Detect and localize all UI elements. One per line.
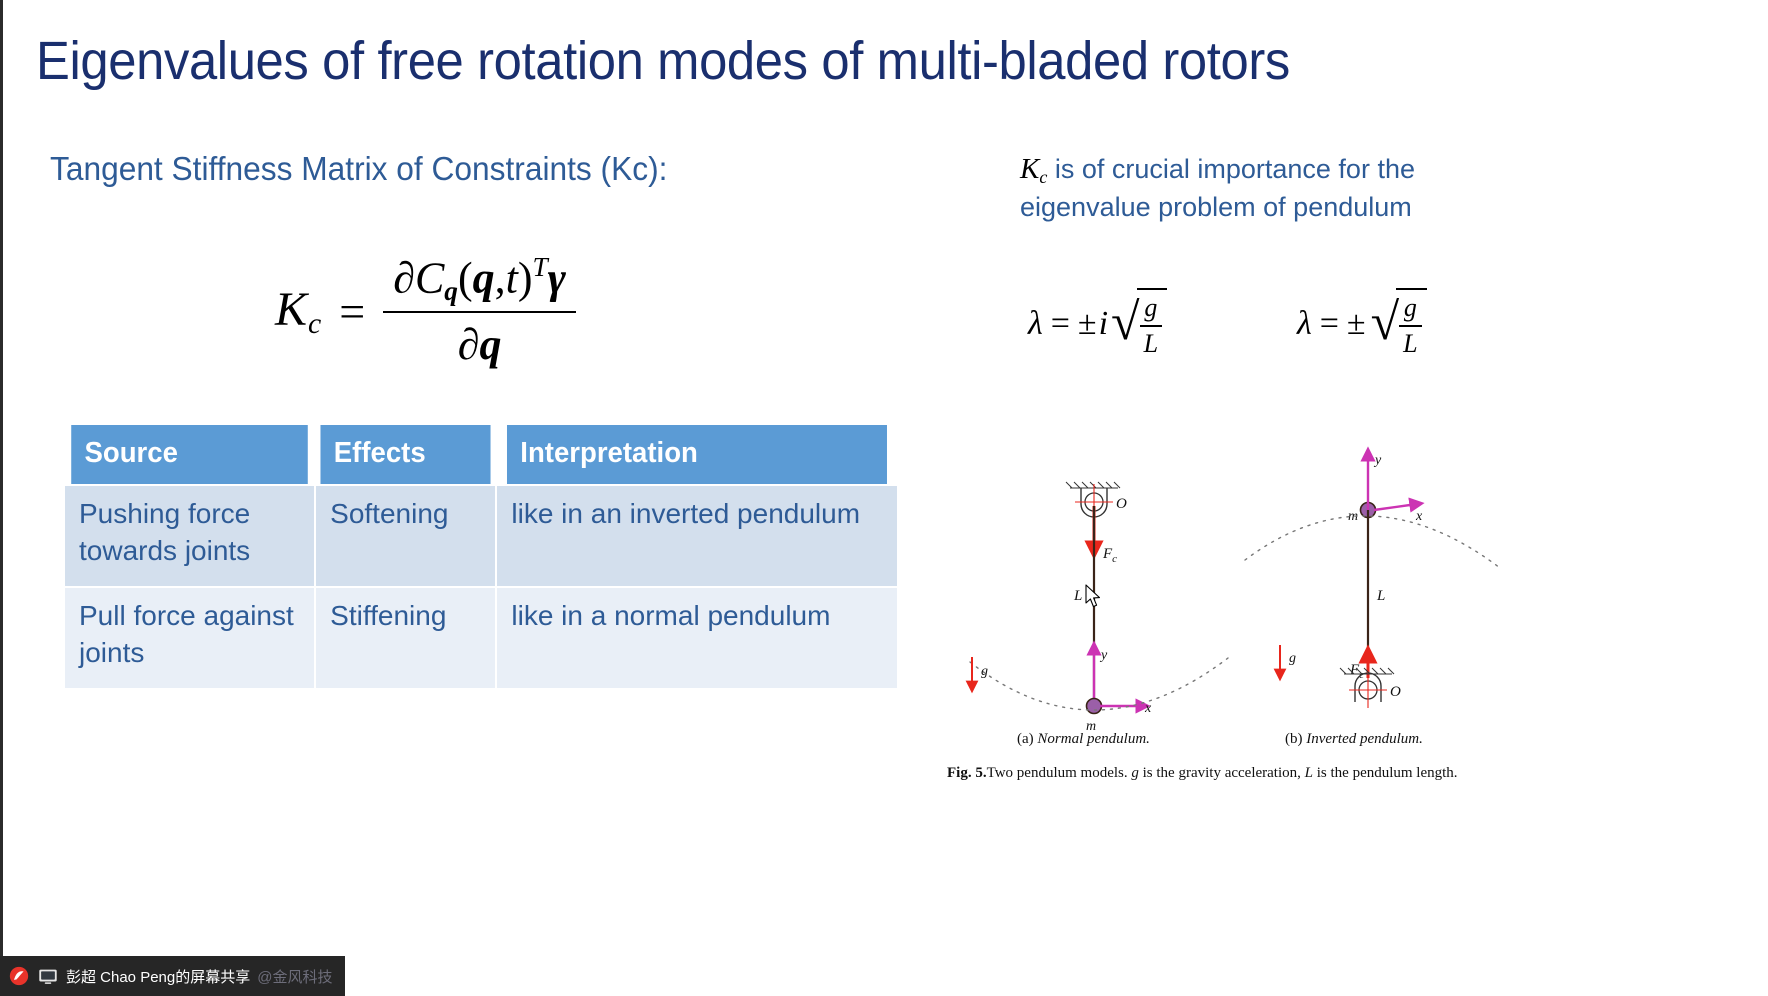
gravity-label-b: g xyxy=(1289,651,1296,666)
kc-lhs: Kc xyxy=(275,282,321,341)
column-header-effects: Effects xyxy=(321,425,491,484)
time-t: t xyxy=(506,253,518,302)
kc-equation: Kc = ∂Cq(q,t)Tγ ∂q xyxy=(275,252,576,370)
normal-pendulum-group: O Fc L y m x g xyxy=(970,482,1228,734)
swing-arc-b xyxy=(1245,516,1500,568)
column-header-source: Source xyxy=(71,425,308,484)
slide-title: Eigenvalues of free rotation modes of mu… xyxy=(36,32,1634,91)
y-label-b: y xyxy=(1373,453,1382,468)
cell-effects: Softening xyxy=(316,486,495,586)
figure-caption-g: g xyxy=(1131,765,1139,781)
effects-table: Source Effects Interpretation Pushing fo… xyxy=(63,423,899,690)
presentation-slide: Eigenvalues of free rotation modes of mu… xyxy=(0,0,1768,996)
cell-source: Pushing force towards joints xyxy=(65,486,314,586)
length-label-a: L xyxy=(1073,588,1082,604)
lambda-symbol: λ xyxy=(1028,305,1043,343)
cell-interpretation: like in an inverted pendulum xyxy=(497,486,897,586)
radicand-numerator: g xyxy=(1140,293,1161,325)
figure-caption-text-3: is the pendulum length. xyxy=(1313,765,1458,781)
x-axis-b xyxy=(1374,504,1417,510)
kc-numerator: ∂Cq(q,t)Tγ xyxy=(383,252,576,311)
force-label-a: Fc xyxy=(1102,546,1117,565)
transpose-superscript: T xyxy=(532,252,547,282)
plus-minus-symbol: ± xyxy=(1078,305,1097,343)
lambda-symbol: λ xyxy=(1297,305,1312,343)
x-label-a: x xyxy=(1144,701,1152,716)
table-row: Pull force against joints Stiffening lik… xyxy=(65,588,897,688)
pivot-label-b: O xyxy=(1390,684,1401,700)
equals-sign: = xyxy=(1320,305,1339,343)
figure-caption-label: Fig. 5. xyxy=(947,765,987,781)
radicand-numerator: g xyxy=(1400,293,1421,325)
eigenvalue-equation-normal: λ = ± i √ g L xyxy=(1028,288,1167,359)
ceiling-hatch-a xyxy=(1066,482,1120,488)
table-header-row: Source Effects Interpretation xyxy=(65,425,897,484)
section-subtitle: Tangent Stiffness Matrix of Constraints … xyxy=(50,150,667,188)
table-row: Pushing force towards joints Softening l… xyxy=(65,486,897,586)
constraint-C: C xyxy=(415,253,444,302)
radicand: g L xyxy=(1137,288,1167,359)
radical-sign: √ xyxy=(1111,288,1140,359)
figure-caption-text-1: Two pendulum models. xyxy=(987,765,1132,781)
subcaption-b-text: Inverted pendulum. xyxy=(1306,731,1423,747)
y-label-a: y xyxy=(1099,648,1108,663)
imaginary-unit: i xyxy=(1099,305,1108,343)
radicand: g L xyxy=(1396,288,1426,359)
radicand-denominator: L xyxy=(1399,327,1421,359)
gravity-label-a: g xyxy=(981,664,988,679)
coordinate-q-denominator: q xyxy=(479,320,501,369)
partial-symbol-denominator: ∂ xyxy=(458,320,480,369)
figure-caption-text-2: is the gravity acceleration, xyxy=(1139,765,1305,781)
paren-open: ( xyxy=(458,253,473,302)
eigenvalue-equation-inverted: λ = ± √ g L xyxy=(1297,288,1427,359)
subcaption-a-label: (a) xyxy=(1017,731,1034,747)
square-root: √ g L xyxy=(1371,288,1427,359)
subcaption-b-label: (b) xyxy=(1285,731,1303,747)
x-label-b: x xyxy=(1415,509,1423,524)
pivot-label-a: O xyxy=(1116,496,1127,512)
window-left-edge xyxy=(0,0,3,996)
kc-inline-symbol: Kc xyxy=(1020,153,1047,185)
square-root: √ g L xyxy=(1111,288,1167,359)
constraint-C-subscript: q xyxy=(444,276,458,306)
kc-inline-letter: K xyxy=(1020,153,1039,185)
plus-minus-symbol: ± xyxy=(1347,305,1366,343)
taskbar-background-empty xyxy=(345,956,1768,996)
screen-share-taskbar[interactable]: 彭超 Chao Peng的屏幕共享 @金风科技 xyxy=(0,956,345,996)
cell-effects: Stiffening xyxy=(316,588,495,688)
radicand-denominator: L xyxy=(1140,327,1162,359)
figure-caption-L: L xyxy=(1305,765,1313,781)
gamma-symbol: γ xyxy=(548,253,566,302)
partial-symbol: ∂ xyxy=(393,253,415,302)
figure-caption: Fig. 5.Two pendulum models. g is the gra… xyxy=(947,765,1547,782)
kc-equals-sign: = xyxy=(339,285,365,338)
kc-note-text: is of crucial importance for the eigenva… xyxy=(1020,154,1415,222)
monitor-screen-icon[interactable] xyxy=(37,965,59,987)
cell-interpretation: like in a normal pendulum xyxy=(497,588,897,688)
kc-importance-note: Kc is of crucial importance for the eige… xyxy=(1020,150,1520,226)
column-header-interpretation: Interpretation xyxy=(507,425,887,484)
screen-share-company: @金风科技 xyxy=(257,966,332,987)
share-app-icon[interactable] xyxy=(8,965,30,987)
kc-denominator: ∂q xyxy=(448,313,512,370)
cell-source: Pull force against joints xyxy=(65,588,314,688)
radical-sign: √ xyxy=(1371,288,1400,359)
equals-sign: = xyxy=(1051,305,1070,343)
kc-lhs-symbol: K xyxy=(275,283,307,336)
inverted-pendulum-group: m y x L Fc O xyxy=(1245,453,1500,708)
subcaption-normal-pendulum: (a) Normal pendulum. xyxy=(1017,731,1150,748)
mass-a xyxy=(1087,699,1102,714)
subcaption-a-text: Normal pendulum. xyxy=(1037,731,1150,747)
length-label-b: L xyxy=(1376,588,1385,604)
kc-lhs-subscript: c xyxy=(308,307,321,340)
paren-close: ) xyxy=(518,253,533,302)
coordinate-q: q xyxy=(473,253,495,302)
kc-fraction: ∂Cq(q,t)Tγ ∂q xyxy=(383,252,576,370)
screen-share-label: 彭超 Chao Peng的屏幕共享 xyxy=(66,966,250,987)
comma: , xyxy=(495,253,506,302)
subcaption-inverted-pendulum: (b) Inverted pendulum. xyxy=(1285,731,1423,748)
